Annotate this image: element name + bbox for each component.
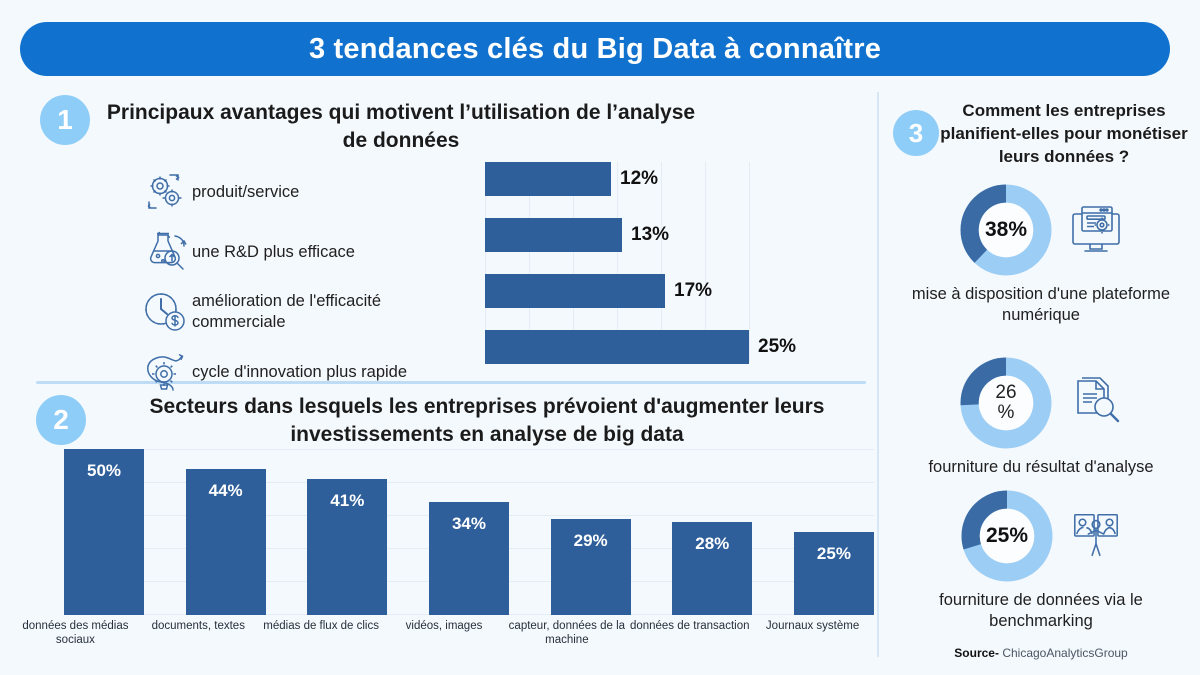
- section-1-bar-chart: 12% 13% 17% 25%: [485, 162, 880, 362]
- monitor-settings-icon: [1068, 202, 1124, 258]
- list-item-label: amélioration de l'efficacité commerciale: [192, 291, 442, 332]
- bar-value-label: 25%: [817, 544, 851, 615]
- donut-center-label: 26 %: [995, 383, 1016, 423]
- section-2-axis-labels: données des médias sociaux documents, te…: [14, 620, 874, 648]
- donut-block-1: 38% mise à disposition d'une plateforme …: [886, 182, 1196, 325]
- bar-value-label: 25%: [758, 336, 796, 358]
- bar-column: 28%: [672, 522, 752, 615]
- axis-tick-label: capteur, données de la machine: [505, 620, 628, 648]
- bar-row: 12%: [485, 162, 880, 196]
- donut-value-percent: %: [995, 403, 1016, 423]
- donut-chart-2: 26 %: [958, 355, 1054, 451]
- infographic-page: 3 tendances clés du Big Data à connaître…: [0, 0, 1200, 675]
- bar-column: 34%: [429, 502, 509, 615]
- source-prefix: Source-: [954, 646, 999, 660]
- bar: 50%: [64, 449, 144, 615]
- donut-row: 25%: [886, 488, 1196, 584]
- axis-tick-label: données des médias sociaux: [14, 620, 137, 648]
- source-name: ChicagoAnalyticsGroup: [1002, 646, 1127, 660]
- bar-value-label: 13%: [631, 224, 669, 246]
- donut-chart-1: 38%: [958, 182, 1054, 278]
- axis-tick-label: données de transaction: [628, 620, 751, 648]
- donut-caption: fourniture du résultat d'analyse: [886, 457, 1196, 478]
- section-1-badge: 1: [40, 95, 90, 145]
- donut-value: 38%: [985, 219, 1027, 241]
- bar-value-label: 28%: [695, 534, 729, 615]
- axis-tick-label: Journaux système: [751, 620, 874, 648]
- innovation-bulb-icon: [140, 352, 192, 392]
- donut-caption: mise à disposition d'une plateforme numé…: [886, 284, 1196, 325]
- documents-magnifier-icon: [1068, 375, 1124, 431]
- bar-column: 44%: [186, 469, 266, 615]
- bar: 25%: [794, 532, 874, 615]
- gears-icon: [140, 173, 192, 211]
- donut-center-label: 25%: [986, 525, 1028, 547]
- section-3-badge: 3: [893, 110, 939, 156]
- clock-dollar-icon: [140, 291, 192, 333]
- bar-column: 41%: [307, 479, 387, 615]
- bar-group: 50% 44% 41% 34% 29%: [64, 449, 874, 615]
- bar-column: 29%: [551, 519, 631, 615]
- bar: 44%: [186, 469, 266, 615]
- bar-value-label: 34%: [452, 514, 486, 615]
- bar: 29%: [551, 519, 631, 615]
- list-item-label: produit/service: [192, 182, 442, 203]
- flask-magnifier-icon: [140, 231, 192, 273]
- section-2-badge: 2: [36, 395, 86, 445]
- axis-tick-label: médias de flux de clics: [260, 620, 383, 648]
- donut-value-number: 26: [995, 383, 1016, 403]
- donut-value: 25%: [986, 525, 1028, 547]
- bar: [485, 162, 611, 196]
- bar-value-label: 44%: [209, 481, 243, 615]
- bar: 41%: [307, 479, 387, 615]
- donut-row: 38%: [886, 182, 1196, 278]
- donut-block-3: 25% fourniture de données via le benchma…: [886, 488, 1196, 631]
- bar-value-label: 29%: [574, 531, 608, 615]
- bar-row: 25%: [485, 330, 880, 364]
- donut-row: 26 %: [886, 355, 1196, 451]
- source-credit: Source- ChicagoAnalyticsGroup: [886, 646, 1196, 660]
- donut-block-2: 26 % fourniture du résultat d'analyse: [886, 355, 1196, 478]
- bar-row: 13%: [485, 218, 880, 252]
- list-item-label: une R&D plus efficace: [192, 242, 442, 263]
- axis-tick-label: documents, textes: [137, 620, 260, 648]
- bar-value-label: 17%: [674, 280, 712, 302]
- section-2-bar-chart: 50% 44% 41% 34% 29%: [64, 449, 874, 615]
- donut-caption: fourniture de données via le benchmarkin…: [886, 590, 1196, 631]
- bar: 34%: [429, 502, 509, 615]
- section-2-title: Secteurs dans lesquels les entreprises p…: [92, 393, 882, 450]
- bar-value-label: 50%: [87, 461, 121, 615]
- bar: 28%: [672, 522, 752, 615]
- section-3-title: Comment les entreprises planifient-elles…: [938, 100, 1190, 169]
- bar-row: 17%: [485, 274, 880, 308]
- donut-center-label: 38%: [985, 219, 1027, 241]
- bar-value-label: 41%: [330, 491, 364, 615]
- presentation-person-icon: [1069, 509, 1123, 563]
- bar: [485, 274, 665, 308]
- page-title: 3 tendances clés du Big Data à connaître: [309, 33, 881, 66]
- bar-value-label: 12%: [620, 168, 658, 190]
- list-item-label: cycle d'innovation plus rapide: [192, 362, 442, 383]
- bar-column: 50%: [64, 449, 144, 615]
- title-banner: 3 tendances clés du Big Data à connaître: [20, 22, 1170, 76]
- bar: [485, 218, 622, 252]
- donut-chart-3: 25%: [959, 488, 1055, 584]
- bar: [485, 330, 749, 364]
- section-1-title: Principaux avantages qui motivent l’util…: [96, 99, 706, 156]
- bar-column: 25%: [794, 532, 874, 615]
- axis-tick-label: vidéos, images: [383, 620, 506, 648]
